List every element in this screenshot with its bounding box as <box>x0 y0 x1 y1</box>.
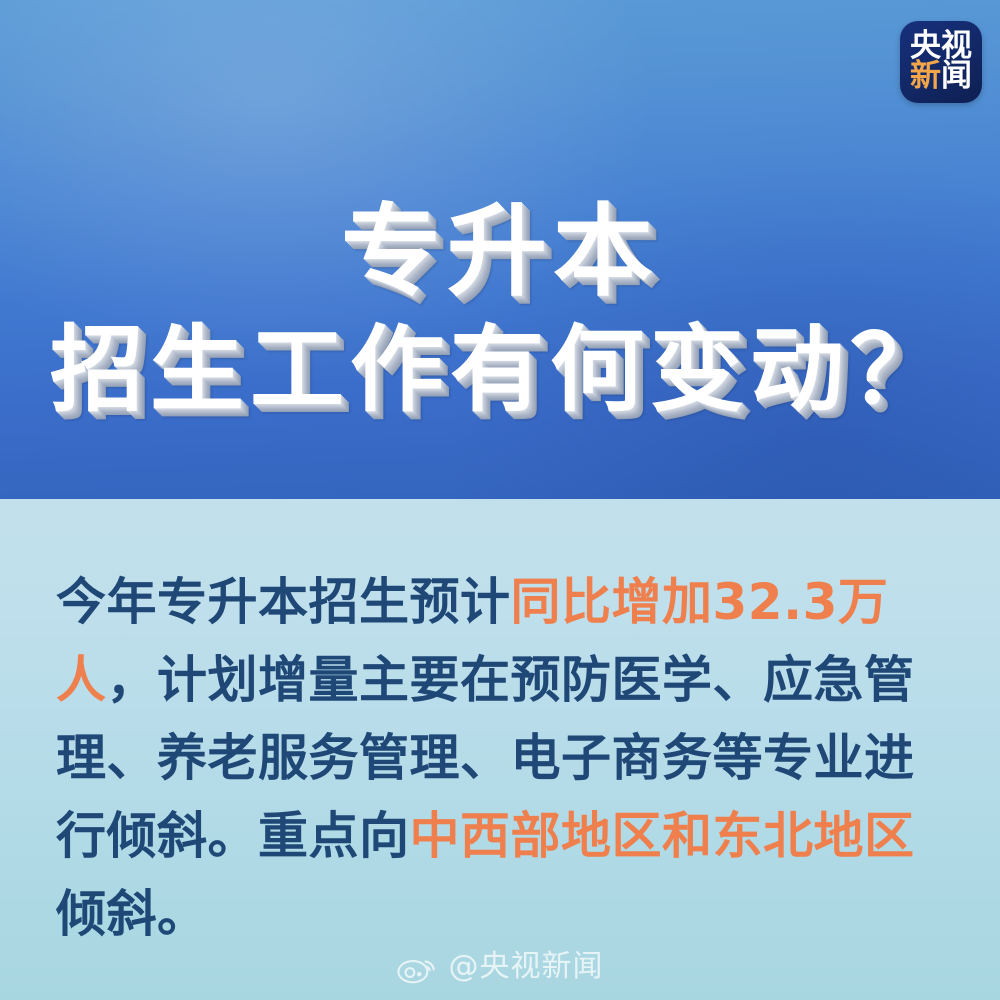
poster-root: 央 视 新 闻 专升本 招生工作有何变动？ 今年专升本招生预计同比增加32.3万… <box>0 0 1000 1000</box>
body-paragraph: 今年专升本招生预计同比增加32.3万人，计划增量主要在预防医学、应急管理、养老服… <box>56 563 956 953</box>
title-line-1: 专升本 <box>0 202 1000 302</box>
weibo-handle: @央视新闻 <box>449 952 604 982</box>
body-panel: 今年专升本招生预计同比增加32.3万人，计划增量主要在预防医学、应急管理、养老服… <box>0 499 1000 1000</box>
cctv-news-logo[interactable]: 央 视 新 闻 <box>900 21 982 103</box>
logo-char-xin: 新 <box>910 62 941 92</box>
weibo-icon <box>397 950 439 984</box>
title-line-2: 招生工作有何变动？ <box>0 324 1000 418</box>
body-segment-plain-1: 今年专升本招生预计 <box>56 573 511 631</box>
header-banner: 央 视 新 闻 专升本 招生工作有何变动？ <box>0 0 1000 499</box>
page-title: 专升本 招生工作有何变动？ <box>0 202 1000 418</box>
weibo-watermark: @央视新闻 <box>0 950 1000 984</box>
body-segment-highlight-2: 中西部地区和东北地区 <box>410 807 915 865</box>
logo-line-bottom: 新 闻 <box>910 62 972 92</box>
body-segment-plain-3: 倾斜。 <box>56 885 208 943</box>
logo-char-wen: 闻 <box>941 62 972 92</box>
